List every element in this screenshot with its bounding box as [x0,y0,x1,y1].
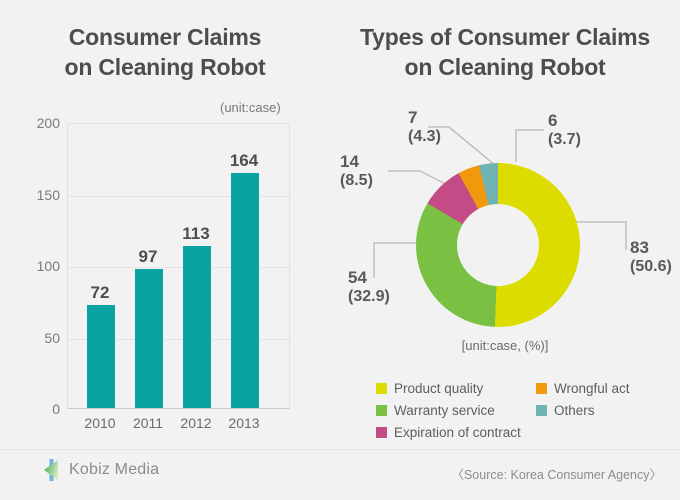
bar-2011[interactable] [135,269,163,408]
bar-chart-title: Consumer Claims on Cleaning Robot [0,22,330,82]
bar-chart-unit-note: (unit:case) [220,100,281,115]
brand-name-label: Kobiz Media [69,461,159,479]
footer-divider [0,449,680,450]
donut-label-warranty-service: 54 (32.9) [348,268,390,306]
donut-center-hole [457,204,539,286]
legend-label-others: Others [554,403,595,418]
legend-swatch-warranty-service [376,405,387,416]
donut-label-product-quality-percent: (50.6) [630,257,672,276]
bar-value-2013: 164 [214,151,274,171]
legend-column-2: Wrongful act Others [536,378,630,422]
donut-chart-unit-note: [unit:case, (%)] [330,338,680,353]
legend-label-warranty-service: Warranty service [394,403,495,418]
donut-label-warranty-service-value: 54 [348,268,367,287]
bar-chart-title-line-1: Consumer Claims [69,24,262,50]
legend-swatch-product-quality [376,383,387,394]
donut-label-wrongful-act-percent: (4.3) [408,127,441,146]
legend-item-others[interactable]: Others [536,400,630,420]
source-note: 〈Source: Korea Consumer Agency〉 [451,464,662,483]
legend-column-1: Product quality Warranty service Expirat… [376,378,521,444]
donut-label-product-quality-value: 83 [630,238,649,257]
bar-value-2012: 113 [166,224,226,244]
legend-label-product-quality: Product quality [394,381,483,396]
legend-swatch-expiration-of-contract [376,427,387,438]
bar-chart-title-line-2: on Cleaning Robot [0,52,330,82]
donut-label-warranty-service-percent: (32.9) [348,287,390,306]
y-axis-tick-100: 100 [12,258,60,274]
donut-chart-panel: Types of Consumer Claims on Cleaning Rob… [330,0,680,500]
bar-2010[interactable] [87,305,115,408]
donut-label-wrongful-act: 7 (4.3) [408,108,441,146]
legend-label-expiration-of-contract: Expiration of contract [394,425,521,440]
donut-label-expiration-of-contract-percent: (8.5) [340,171,373,190]
y-axis-tick-50: 50 [12,330,60,346]
donut-label-others-percent: (3.7) [548,130,581,149]
bar-value-2011: 97 [118,247,178,267]
kobiz-chevron-logo-icon [42,459,62,481]
bar-chart-panel: Consumer Claims on Cleaning Robot (unit:… [0,0,330,500]
x-axis-label-2013: 2013 [214,415,274,431]
leader-line-others [516,130,544,162]
donut-label-product-quality: 83 (50.6) [630,238,672,276]
bar-2012[interactable] [183,246,211,408]
y-axis-tick-200: 200 [12,115,60,131]
donut-label-wrongful-act-value: 7 [408,108,417,127]
legend-item-expiration-of-contract[interactable]: Expiration of contract [376,422,521,442]
bar-value-2010: 72 [70,283,130,303]
donut-label-expiration-of-contract-value: 14 [340,152,359,171]
legend-swatch-wrongful-act [536,383,547,394]
donut-label-others-value: 6 [548,111,557,130]
legend-item-warranty-service[interactable]: Warranty service [376,400,521,420]
brand-mark[interactable]: Kobiz Media [42,459,159,481]
infographic-canvas: Consumer Claims on Cleaning Robot (unit:… [0,0,680,500]
legend-swatch-others [536,405,547,416]
legend-item-product-quality[interactable]: Product quality [376,378,521,398]
legend-label-wrongful-act: Wrongful act [554,381,630,396]
donut-label-others: 6 (3.7) [548,111,581,149]
bar-2013[interactable] [231,173,259,408]
y-axis-tick-0: 0 [12,401,60,417]
y-axis-tick-150: 150 [12,187,60,203]
donut-label-expiration-of-contract: 14 (8.5) [340,152,373,190]
donut-ring[interactable] [416,163,580,327]
legend-item-wrongful-act[interactable]: Wrongful act [536,378,630,398]
